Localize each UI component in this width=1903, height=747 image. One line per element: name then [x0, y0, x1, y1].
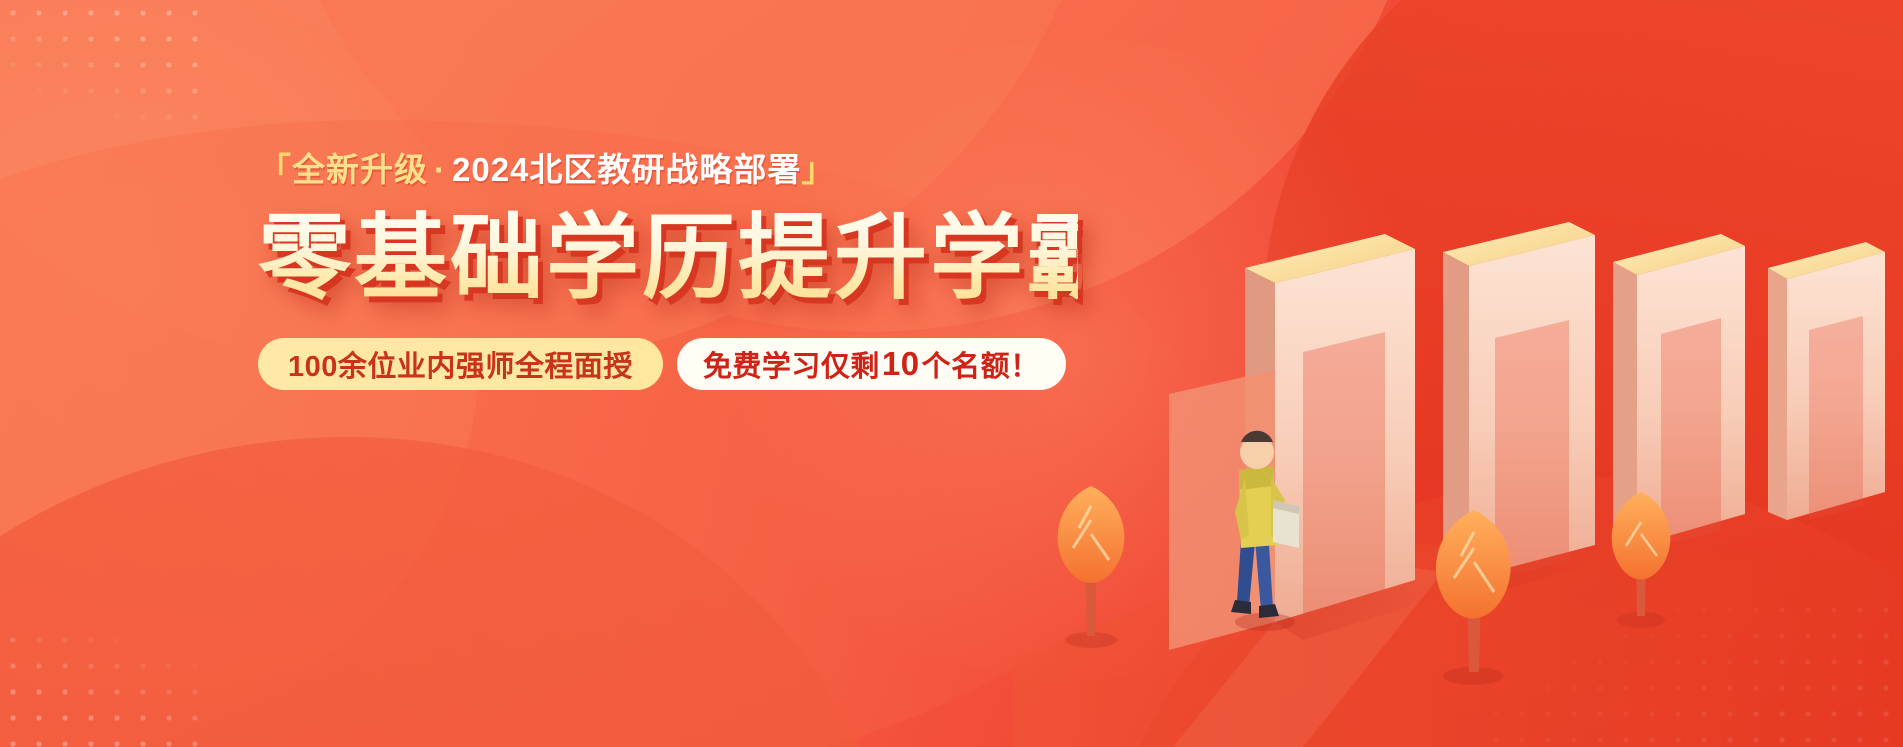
banner-copy: 「全新升级·2024北区教研战略部署」 零基础学历提升学霸班 100余位业内强师…	[258, 150, 1078, 390]
badge-seats-suffix: 个名额！	[922, 343, 1040, 385]
badge-seats-prefix: 免费学习仅剩	[703, 343, 880, 385]
book-arch-4	[1768, 242, 1885, 520]
banner-badges: 100余位业内强师全程面授 免费学习仅剩10个名额！	[258, 338, 1078, 390]
dot-pattern-top-left	[0, 0, 200, 120]
badge-instructors-label: 100余位业内强师全程面授	[288, 343, 633, 385]
subtitle-rest: 2024北区教研战略部署	[452, 151, 801, 188]
subtitle-open-bracket: 「	[258, 151, 292, 188]
isometric-books-illustration	[973, 0, 1903, 747]
background-wave-bottom-left	[0, 437, 900, 747]
dot-pattern-bottom-left	[0, 627, 210, 747]
banner-main-title: 零基础学历提升学霸班	[258, 208, 1078, 308]
badge-seats[interactable]: 免费学习仅剩10个名额！	[677, 338, 1066, 390]
subtitle-highlight: 全新升级	[292, 151, 428, 188]
subtitle-close-bracket: 」	[801, 151, 835, 188]
promo-banner: 「全新升级·2024北区教研战略部署」 零基础学历提升学霸班 100余位业内强师…	[0, 0, 1903, 747]
subtitle-separator: ·	[428, 151, 452, 188]
badge-instructors[interactable]: 100余位业内强师全程面授	[258, 338, 663, 390]
banner-subtitle: 「全新升级·2024北区教研战略部署」	[258, 150, 1078, 190]
badge-seats-count: 10	[880, 345, 922, 383]
